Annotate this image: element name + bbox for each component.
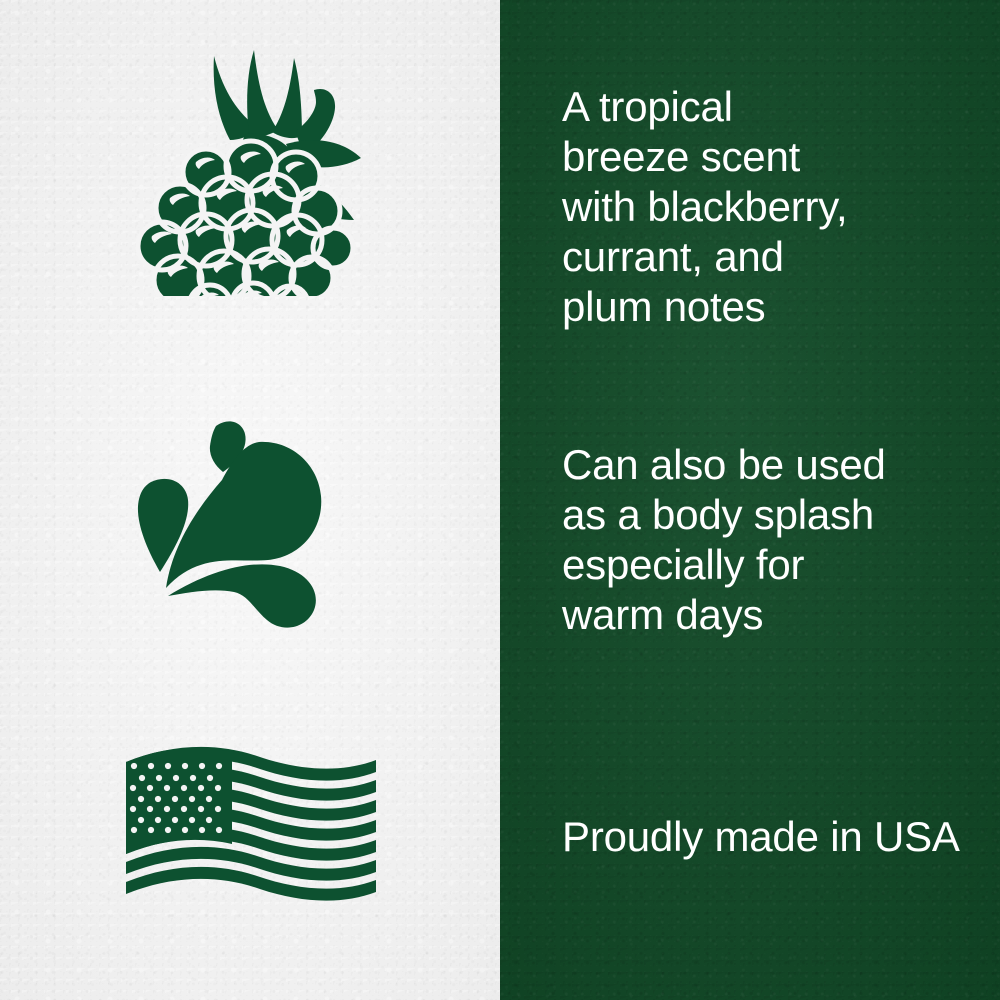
icon-column [0, 0, 500, 1000]
blackberry-icon [118, 48, 362, 296]
scent-description-text: A tropical breeze scent with blackberry,… [562, 82, 990, 332]
product-feature-infographic: A tropical breeze scent with blackberry,… [0, 0, 1000, 1000]
usa-flag-icon [120, 740, 382, 916]
splash-icon [128, 420, 328, 632]
usage-description-text: Can also be used as a body splash especi… [562, 440, 990, 640]
origin-description-text: Proudly made in USA [562, 812, 990, 862]
copy-column: A tropical breeze scent with blackberry,… [500, 0, 1000, 1000]
